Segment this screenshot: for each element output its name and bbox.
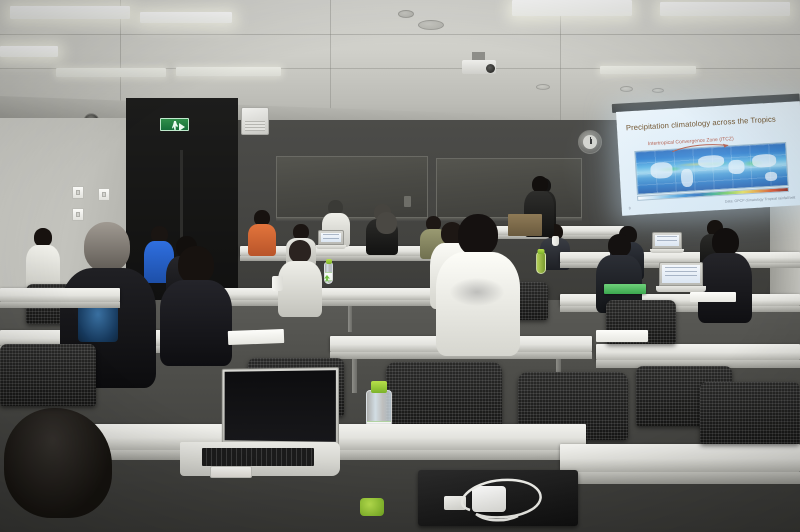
person-head	[4, 408, 112, 518]
laptop[interactable]	[656, 262, 706, 296]
foreground-person	[0, 408, 132, 532]
audience-person	[366, 212, 406, 288]
paper-sheet[interactable]	[690, 292, 736, 302]
audience-person	[698, 228, 752, 320]
ceiling-vent	[398, 10, 414, 18]
audience-person	[278, 240, 322, 314]
desk-edge	[0, 302, 120, 308]
ceiling-light-panel	[660, 2, 790, 16]
water-bottle[interactable]	[324, 262, 333, 284]
desk-edge	[560, 472, 800, 484]
laptop-lid	[222, 367, 339, 445]
audience-person	[26, 228, 60, 290]
audience-person	[248, 210, 276, 254]
light-switch[interactable]	[72, 208, 84, 221]
ceiling-light-panel	[176, 67, 281, 76]
wall-clock-icon	[578, 130, 602, 154]
desk	[0, 288, 120, 302]
white-cup[interactable]	[272, 276, 283, 291]
ceiling-light-panel	[56, 68, 166, 77]
projector-lens-icon	[486, 64, 495, 73]
light-switch[interactable]	[98, 188, 110, 201]
audience-person	[596, 234, 642, 310]
slide-page-number: 8	[629, 206, 631, 210]
ceiling-light-panel	[512, 0, 632, 16]
audience-person	[436, 214, 520, 354]
desk	[596, 344, 800, 360]
chair[interactable]	[0, 344, 96, 406]
shirt-print	[450, 278, 504, 306]
ceiling-light-panel	[140, 12, 232, 23]
paper-sheet[interactable]	[228, 329, 284, 345]
green-cap[interactable]	[360, 498, 384, 516]
desk-leg	[352, 359, 357, 393]
paper-sheet[interactable]	[596, 330, 648, 342]
laptop-screen	[225, 370, 336, 442]
foreground-laptop[interactable]	[180, 368, 340, 480]
ceiling-vent	[652, 88, 664, 93]
wall-outlet	[404, 196, 411, 207]
chair[interactable]	[386, 362, 502, 432]
lecture-hall-photo: Precipitation climatology across the Tro…	[0, 0, 800, 532]
desk-edge	[240, 256, 450, 261]
whiteboard-left	[276, 156, 428, 218]
ceiling-vent	[536, 84, 550, 90]
wall-speaker-icon	[241, 107, 269, 135]
person-head	[84, 222, 130, 272]
light-switch[interactable]	[72, 186, 84, 199]
ceiling-light-panel	[600, 66, 696, 74]
slide-title: Precipitation climatology across the Tro…	[626, 113, 795, 132]
ceiling-light-panel	[10, 6, 130, 19]
adapter-cable	[440, 470, 580, 526]
desk-foreground	[560, 444, 800, 472]
laptop-keyboard[interactable]	[202, 448, 314, 466]
audience-person	[160, 246, 232, 364]
white-cup[interactable]	[552, 236, 559, 246]
ceiling-vent	[418, 20, 444, 30]
desk-leg	[348, 306, 352, 332]
green-folder[interactable]	[604, 284, 646, 294]
exit-sign-icon	[160, 118, 189, 131]
whiteboard-right	[436, 158, 582, 218]
ceiling-vent	[620, 86, 633, 92]
laptop[interactable]	[650, 232, 684, 256]
projection-screen: Precipitation climatology across the Tro…	[616, 101, 800, 216]
slide-caption: Data: GPCP climatology Tropical rainfall…	[725, 195, 796, 205]
chair[interactable]	[700, 382, 800, 444]
laptop-trackpad[interactable]	[210, 466, 252, 478]
ceiling-light-panel	[0, 46, 58, 57]
thermos[interactable]	[536, 252, 546, 274]
